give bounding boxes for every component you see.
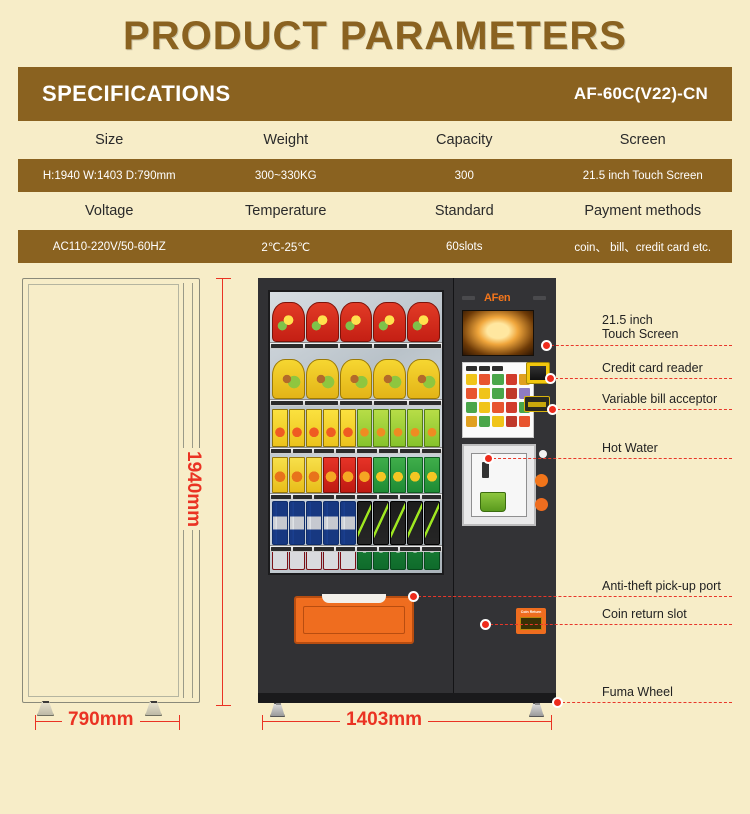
machine-control-panel: AFen <box>454 278 556 703</box>
callout-dot-card-reader <box>545 373 556 384</box>
keypad-cell[interactable] <box>466 416 477 427</box>
price-tag <box>374 401 406 405</box>
keypad-indicator <box>479 366 490 371</box>
keypad-cell[interactable] <box>479 374 490 385</box>
spec-value-standard: 60slots <box>375 230 554 263</box>
spec-value-payment: coin、 bill、credit card etc. <box>554 230 733 263</box>
price-tag <box>293 449 313 453</box>
dimension-label-depth: 790mm <box>62 709 140 731</box>
price-tag <box>305 344 337 348</box>
spec-label-voltage: Voltage <box>18 192 197 230</box>
product-item <box>373 302 406 342</box>
callout-dot-coin-return <box>480 619 491 630</box>
dimension-label-width: 1403mm <box>340 709 428 731</box>
machine-base <box>258 693 556 703</box>
spec-label-temperature: Temperature <box>197 192 376 230</box>
price-tag <box>336 495 356 499</box>
product-item <box>340 409 356 447</box>
callout-dot-fuma-wheel <box>552 697 563 708</box>
coin-return-slot[interactable]: Coin Return <box>516 608 546 634</box>
product-item <box>357 457 373 493</box>
keypad-cell[interactable] <box>479 388 490 399</box>
spec-value-row-2: AC110-220V/50-60HZ 2℃-25℃ 60slots coin、 … <box>18 230 732 263</box>
keypad-cell[interactable] <box>479 416 490 427</box>
product-item <box>390 409 406 447</box>
price-tag <box>314 547 334 551</box>
price-tag <box>379 449 399 453</box>
shelf-row-6 <box>270 552 442 575</box>
callout-label-hot-water: Hot Water <box>602 441 658 455</box>
status-light-icon <box>539 450 547 458</box>
keypad-button-grid[interactable] <box>466 374 530 427</box>
keypad-cell[interactable] <box>506 388 517 399</box>
shelf-4-items <box>272 457 440 493</box>
callout-label-coin-return: Coin return slot <box>602 607 687 621</box>
spec-value-temperature: 2℃-25℃ <box>197 230 376 263</box>
product-item <box>357 552 373 570</box>
hot-water-button[interactable] <box>535 474 548 487</box>
callout-line-pickup-port <box>413 596 732 597</box>
keypad-cell[interactable] <box>492 416 503 427</box>
price-tag <box>422 449 442 453</box>
coin-return-label: Coin Return <box>516 608 546 616</box>
machine-side-view <box>22 278 200 703</box>
price-tag <box>379 495 399 499</box>
keypad-cell[interactable] <box>519 416 530 427</box>
shelf-2-rail <box>270 399 442 406</box>
price-tag <box>314 495 334 499</box>
price-tag <box>400 547 420 551</box>
pickup-port-flap <box>322 594 386 603</box>
keypad-cell[interactable] <box>506 416 517 427</box>
product-item <box>272 302 305 342</box>
product-item <box>306 552 322 570</box>
product-item <box>373 359 406 399</box>
callout-line-coin-return <box>485 624 732 625</box>
side-view-foot-right <box>145 701 162 716</box>
spec-table: Size Weight Capacity Screen H:1940 W:140… <box>18 121 732 263</box>
price-tag <box>336 449 356 453</box>
product-item <box>323 552 339 570</box>
callout-label-bill-acceptor: Variable bill acceptor <box>602 392 717 406</box>
keypad-indicator <box>466 366 477 371</box>
keypad-cell[interactable] <box>506 374 517 385</box>
spec-value-row-1: H:1940 W:1403 D:790mm 300~330KG 300 21.5… <box>18 159 732 192</box>
product-item <box>407 409 423 447</box>
callout-label-card-reader: Credit card reader <box>602 361 703 375</box>
product-item <box>340 457 356 493</box>
price-tag <box>357 495 377 499</box>
vent-left-icon <box>462 296 475 300</box>
spec-value-capacity: 300 <box>375 159 554 192</box>
price-tag <box>293 547 313 551</box>
spec-label-payment: Payment methods <box>554 192 733 230</box>
product-item <box>407 552 423 570</box>
product-item <box>424 457 440 493</box>
product-item <box>390 457 406 493</box>
product-item <box>424 409 440 447</box>
product-item <box>323 457 339 493</box>
price-tag <box>357 449 377 453</box>
product-item <box>272 552 288 570</box>
shelf-3-rail <box>270 447 442 454</box>
product-item <box>340 552 356 570</box>
price-tag <box>340 344 372 348</box>
spec-model-number: AF-60C(V22)-CN <box>574 84 708 104</box>
product-item <box>306 501 322 545</box>
spec-label-row-2: Voltage Temperature Standard Payment met… <box>18 192 732 230</box>
vent-right-icon <box>533 296 546 300</box>
keypad-cell[interactable] <box>466 374 477 385</box>
spec-value-voltage: AC110-220V/50-60HZ <box>18 230 197 263</box>
spec-header: SPECIFICATIONS AF-60C(V22)-CN <box>18 67 732 121</box>
product-item <box>390 501 406 545</box>
product-item <box>357 409 373 447</box>
product-item <box>289 409 305 447</box>
price-tag <box>340 401 372 405</box>
keypad-cell[interactable] <box>492 388 503 399</box>
product-item <box>289 501 305 545</box>
spec-label-weight: Weight <box>197 121 376 159</box>
price-tag <box>271 344 303 348</box>
product-item <box>340 302 373 342</box>
machine-foot-right <box>529 703 544 717</box>
product-item <box>289 457 305 493</box>
spec-label-screen: Screen <box>554 121 733 159</box>
keypad-indicator <box>492 366 503 371</box>
shelf-6-items <box>272 552 440 570</box>
price-tag <box>422 547 442 551</box>
spec-label-size: Size <box>18 121 197 159</box>
hot-water-dispenser[interactable] <box>462 444 536 526</box>
price-tag <box>400 449 420 453</box>
product-item <box>373 501 389 545</box>
product-diagram: 1940mm 790mm 1403mm <box>0 273 750 778</box>
spec-label-capacity: Capacity <box>375 121 554 159</box>
spec-value-screen: 21.5 inch Touch Screen <box>554 159 733 192</box>
shelf-1-rail <box>270 342 442 349</box>
product-item <box>272 359 305 399</box>
product-item <box>390 552 406 570</box>
callout-line-bill-acceptor <box>552 409 732 410</box>
callout-line-hot-water <box>488 458 732 459</box>
keypad-cell[interactable] <box>492 374 503 385</box>
callout-line-fuma-wheel <box>562 702 732 703</box>
shelf-5-items <box>272 501 440 545</box>
shelf-row-2 <box>270 349 442 406</box>
dispense-button[interactable] <box>535 498 548 511</box>
product-item <box>323 409 339 447</box>
spec-label-standard: Standard <box>375 192 554 230</box>
shelf-5-rail <box>270 545 442 552</box>
callout-dot-touch-screen <box>541 340 552 351</box>
product-item <box>424 552 440 570</box>
product-item <box>407 302 440 342</box>
product-item <box>272 501 288 545</box>
price-tag <box>357 547 377 551</box>
price-tag <box>379 547 399 551</box>
machine-foot-left <box>270 703 285 717</box>
price-tag <box>336 547 356 551</box>
shelf-row-4 <box>270 454 442 500</box>
price-tag <box>305 401 337 405</box>
machine-product-cabinet <box>258 278 454 703</box>
product-item <box>323 501 339 545</box>
product-item <box>306 457 322 493</box>
product-item <box>407 359 440 399</box>
product-item <box>340 359 373 399</box>
keypad-cell[interactable] <box>506 402 517 413</box>
price-tag <box>271 495 291 499</box>
shelf-4-rail <box>270 493 442 500</box>
price-tag <box>409 344 441 348</box>
keypad-cell[interactable] <box>479 402 490 413</box>
specifications-section: SPECIFICATIONS AF-60C(V22)-CN Size Weigh… <box>0 67 750 263</box>
callout-label-pickup-port: Anti-theft pick-up port <box>602 579 721 593</box>
callout-dot-pickup-port <box>408 591 419 602</box>
product-item <box>373 409 389 447</box>
price-tag <box>314 449 334 453</box>
shelf-row-5 <box>270 500 442 552</box>
callout-dot-hot-water <box>483 453 494 464</box>
shelf-row-3 <box>270 406 442 454</box>
pickup-port-inner <box>303 606 405 634</box>
shelf-3-items <box>272 409 440 447</box>
shelf-row-1 <box>270 292 442 349</box>
price-tag <box>271 401 303 405</box>
keypad-cell[interactable] <box>466 388 477 399</box>
shelf-2-items <box>272 359 440 399</box>
shelf-1-items <box>272 302 440 342</box>
noodle-cup-icon <box>480 492 506 512</box>
product-item <box>407 457 423 493</box>
spec-value-weight: 300~330KG <box>197 159 376 192</box>
product-item <box>424 501 440 545</box>
price-tag <box>374 344 406 348</box>
callout-dot-bill-acceptor <box>547 404 558 415</box>
product-item <box>306 409 322 447</box>
spec-value-size: H:1940 W:1403 D:790mm <box>18 159 197 192</box>
dimension-label-height: 1940mm <box>180 448 206 530</box>
product-item <box>407 501 423 545</box>
product-item <box>373 457 389 493</box>
price-tag <box>400 495 420 499</box>
touch-screen-display[interactable] <box>462 310 534 356</box>
callout-label-touch-screen: 21.5 inch Touch Screen <box>602 313 678 341</box>
side-view-foot-left <box>37 701 54 716</box>
pickup-port-drawer[interactable] <box>294 596 414 644</box>
glass-display-window <box>268 290 444 575</box>
price-tag <box>271 547 291 551</box>
product-item <box>306 302 339 342</box>
price-tag <box>293 495 313 499</box>
keypad-status-row <box>466 366 530 371</box>
callout-label-fuma-wheel: Fuma Wheel <box>602 685 673 699</box>
machine-front-view: AFen <box>258 278 556 703</box>
spec-label-row-1: Size Weight Capacity Screen <box>18 121 732 159</box>
product-item <box>306 359 339 399</box>
hot-water-bay <box>471 453 527 517</box>
price-tag <box>422 495 442 499</box>
brand-logo: AFen <box>484 292 510 304</box>
price-tag <box>271 449 291 453</box>
side-view-panel-line <box>28 284 179 697</box>
keypad-cell[interactable] <box>466 402 477 413</box>
product-item <box>272 457 288 493</box>
dimension-line-height <box>222 278 223 706</box>
callout-line-card-reader <box>550 378 732 379</box>
page-title: PRODUCT PARAMETERS <box>0 0 750 67</box>
product-item <box>340 501 356 545</box>
keypad-cell[interactable] <box>492 402 503 413</box>
product-item <box>272 409 288 447</box>
callout-line-touch-screen <box>546 345 732 346</box>
price-tag <box>409 401 441 405</box>
spec-header-title: SPECIFICATIONS <box>42 81 231 107</box>
product-item <box>289 552 305 570</box>
hot-water-nozzle-icon <box>482 462 489 478</box>
product-item <box>373 552 389 570</box>
product-item <box>357 501 373 545</box>
